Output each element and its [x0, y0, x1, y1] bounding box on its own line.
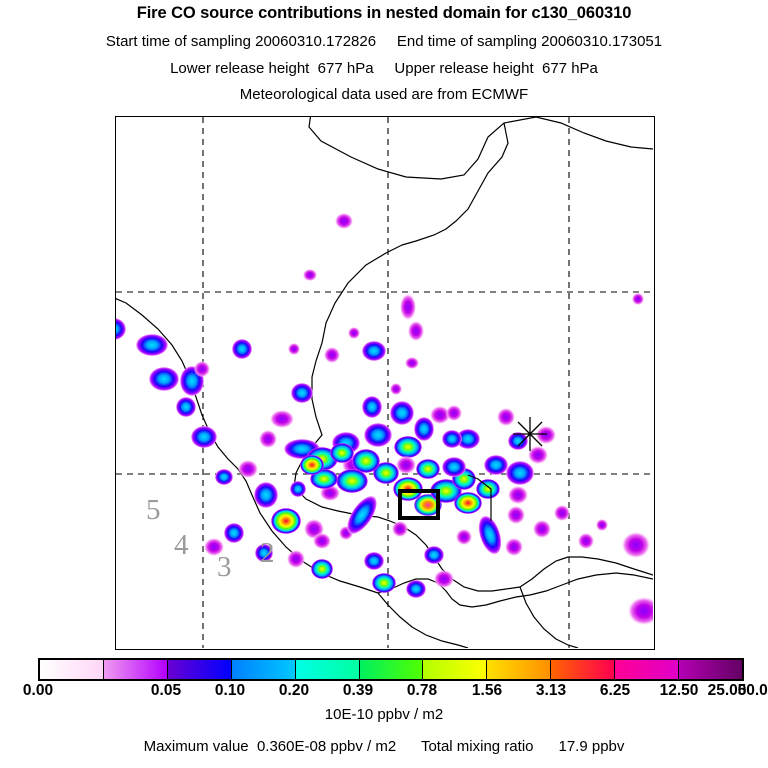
sampling-times: Start time of sampling 20060310.172826 E… [0, 33, 768, 50]
colorbar-segment-7 [487, 660, 551, 679]
colorbar-tick-5: 0.78 [407, 682, 437, 700]
plume-field [116, 213, 653, 625]
colorbar-tick-1: 0.05 [151, 682, 181, 700]
day-label-5: 5 [146, 496, 161, 525]
day-label-2: 2 [260, 539, 275, 568]
colorbar-tick-4: 0.39 [343, 682, 373, 700]
colorbar-tick-6: 1.56 [472, 682, 502, 700]
colorbar-tick-11: 50.00 [738, 682, 768, 700]
day-label-3: 3 [217, 553, 232, 582]
colorbar-segment-6 [423, 660, 487, 679]
colorbar[interactable] [38, 658, 744, 681]
release-asterisk-icon [513, 417, 547, 451]
footer-summary: Maximum value 0.360E-08 ppbv / m2 Total … [0, 738, 768, 755]
colorbar-units-label: 10E-10 ppbv / m2 [0, 706, 768, 723]
colorbar-tick-9: 12.50 [660, 682, 699, 700]
colorbar-segment-3 [232, 660, 296, 679]
colorbar-segment-8 [551, 660, 615, 679]
colorbar-segment-5 [360, 660, 424, 679]
meteorology-note: Meteorological data used are from ECMWF [0, 86, 768, 103]
colorbar-segment-0 [40, 660, 104, 679]
map-panel[interactable]: 5 4 3 2 [115, 116, 655, 650]
colorbar-tick-labels: 0.000.050.100.200.390.781.563.136.2512.5… [0, 682, 768, 702]
colorbar-segment-10 [679, 660, 742, 679]
colorbar-segment-9 [615, 660, 679, 679]
colorbar-tick-3: 0.20 [279, 682, 309, 700]
map-graphic [116, 117, 653, 648]
day-label-4: 4 [174, 531, 189, 560]
colorbar-segment-1 [104, 660, 168, 679]
colorbar-tick-2: 0.10 [215, 682, 245, 700]
colorbar-segment-2 [168, 660, 232, 679]
page-title: Fire CO source contributions in nested d… [0, 4, 768, 23]
plot-page: Fire CO source contributions in nested d… [0, 0, 768, 768]
colorbar-tick-7: 3.13 [536, 682, 566, 700]
colorbar-segment-4 [296, 660, 360, 679]
colorbar-tick-0: 0.00 [23, 682, 53, 700]
colorbar-tick-8: 6.25 [600, 682, 630, 700]
release-heights: Lower release height 677 hPa Upper relea… [0, 60, 768, 77]
